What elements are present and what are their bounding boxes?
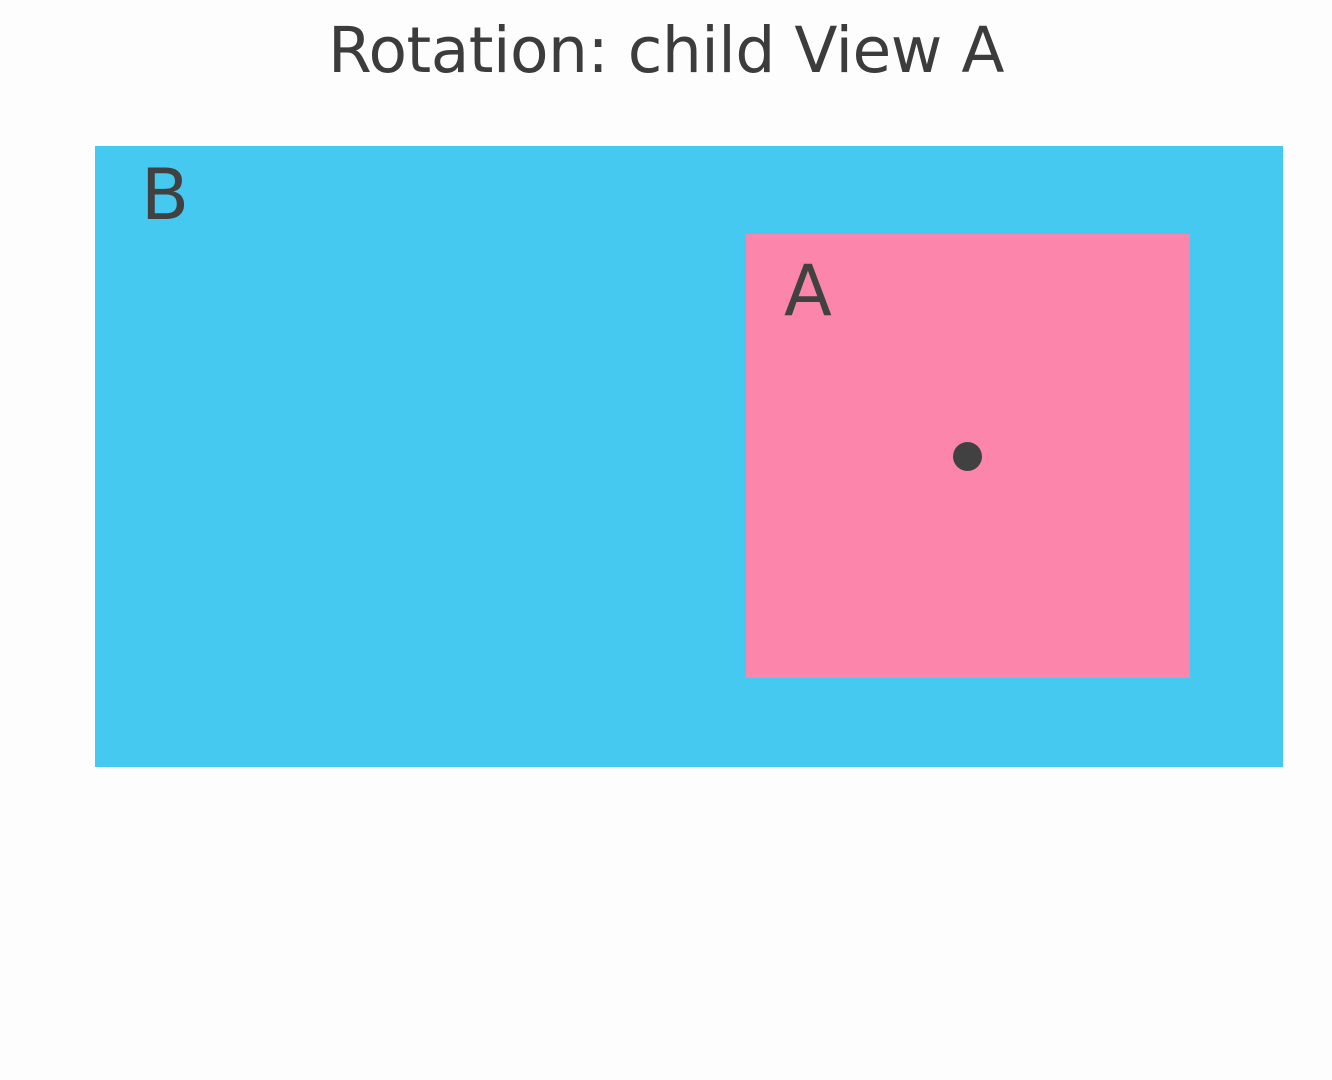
parent-view-b[interactable]: B A [95, 146, 1283, 767]
parent-view-label: B [141, 160, 189, 230]
child-view-label: A [784, 256, 832, 326]
child-view-a[interactable]: A [746, 234, 1190, 678]
page-title: Rotation: child View A [0, 18, 1332, 84]
rotation-pivot-dot-icon[interactable] [953, 442, 982, 471]
canvas-stage: Rotation: child View A B A [0, 0, 1332, 1080]
